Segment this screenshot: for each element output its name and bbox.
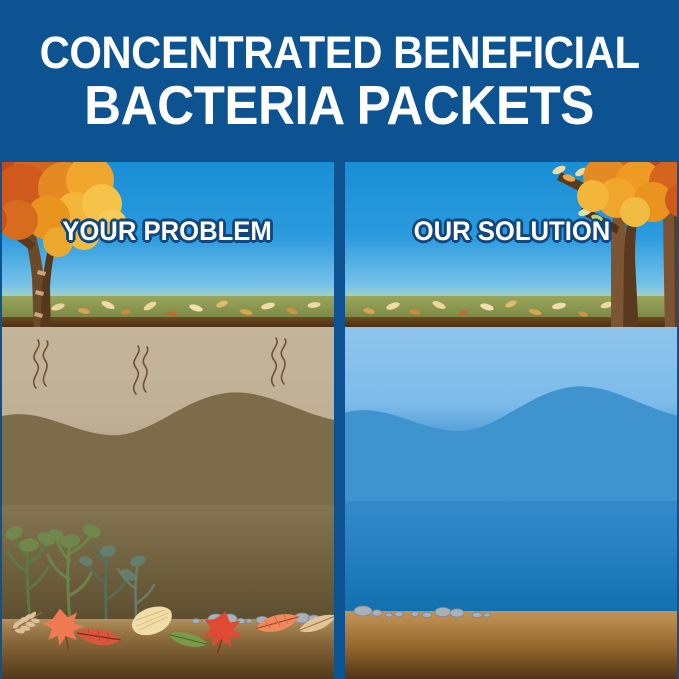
autumn-tree-right xyxy=(507,162,679,338)
clear-water-surface-wave xyxy=(345,371,679,501)
caption-your-problem: YOUR PROBLEM xyxy=(8,216,325,247)
panel-your-problem: YOUR PROBLEM xyxy=(0,162,334,679)
header-title-line2: BACTERIA PACKETS xyxy=(85,78,595,133)
leaf-litter-row xyxy=(0,603,334,665)
header-banner: CONCENTRATED BENEFICIAL BACTERIA PACKETS xyxy=(0,0,679,162)
odor-line-2 xyxy=(124,344,158,396)
odor-line-1 xyxy=(24,338,58,390)
caption-our-solution: OUR SOLUTION xyxy=(353,216,670,247)
sand-bottom-right xyxy=(345,611,679,679)
panel-divider xyxy=(334,162,345,679)
odor-line-3 xyxy=(262,336,296,388)
poster: CONCENTRATED BENEFICIAL BACTERIA PACKETS xyxy=(0,0,679,679)
panel-our-solution: OUR SOLUTION xyxy=(345,162,679,679)
comparison-scene: YOUR PROBLEM xyxy=(0,162,679,679)
bottom-rocks-right xyxy=(345,597,679,619)
murky-water-surface-wave xyxy=(0,375,334,505)
header-title-line1: CONCENTRATED BENEFICIAL xyxy=(40,30,640,75)
scene-edge-left xyxy=(0,162,2,679)
autumn-tree-left xyxy=(0,162,152,338)
